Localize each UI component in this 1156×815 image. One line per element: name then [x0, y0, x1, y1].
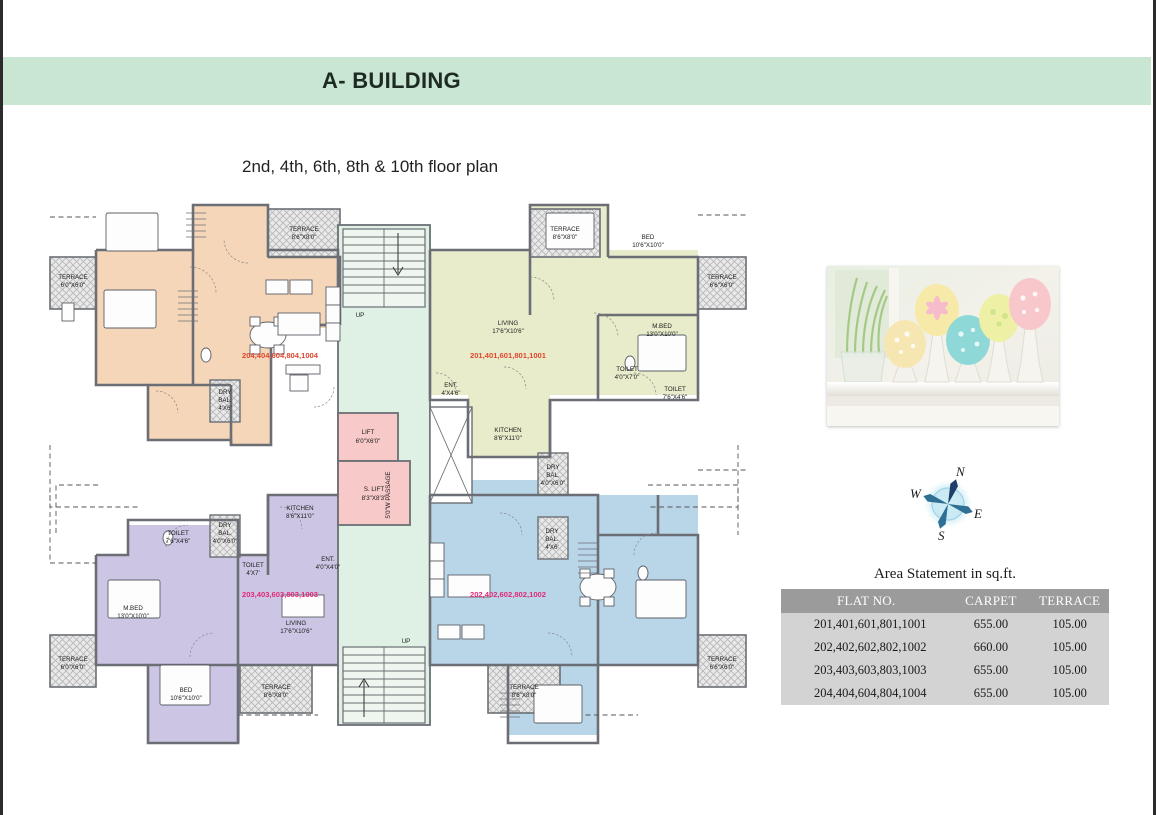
lift-shaft: [338, 413, 398, 461]
label-living-tr-dim: 17'6"X10'6": [492, 328, 524, 335]
label-terrace-tl-a: TERRACE: [58, 274, 88, 281]
label-terrace-tl-b: TERRACE: [289, 226, 319, 233]
label-terrace-tl-a-dim: 6'0"X6'0": [61, 282, 86, 289]
cell-terrace: 105.00: [1030, 636, 1109, 659]
label-ent-tr-dim: 4'X4'6": [441, 390, 460, 397]
area-statement-table: FLAT NO. CARPET TERRACE 201,401,601,801,…: [781, 589, 1109, 705]
cell-carpet: 655.00: [952, 659, 1031, 682]
label-toilet-bl-a: TOILET: [167, 530, 189, 537]
label-living-bl-dim: 17'6"X10'6": [280, 628, 312, 635]
label-ent-bl: ENT.: [321, 556, 335, 563]
header-band: [3, 57, 1151, 105]
cell-flat-no: 202,402,602,802,1002: [781, 636, 952, 659]
label-mbed-tr: M.BED: [652, 323, 672, 330]
label-toilet-bl-a-dim: 7'6"X4'6": [166, 538, 191, 545]
cell-carpet: 660.00: [952, 636, 1031, 659]
floor-plan-subtitle: 2nd, 4th, 6th, 8th & 10th floor plan: [242, 157, 498, 177]
stair-top: UP: [343, 229, 425, 319]
label-toilet-tr-a: TOILET: [616, 366, 638, 373]
label-kitchen-tr: KITCHEN: [494, 427, 521, 434]
label-drybal-tr-dim: 4'0"X6'0": [541, 480, 566, 487]
label-drybal-br-2: BAL.: [545, 536, 559, 543]
label-toilet-tr-b-dim: 7'6"X4'6": [663, 394, 688, 401]
page-root: A- BUILDING 2nd, 4th, 6th, 8th & 10th fl…: [0, 0, 1156, 815]
unit-number-bottom-left: 203,403,603,803,1003: [242, 590, 318, 599]
label-terrace-tr-b-dim: 6'6"X6'0": [710, 282, 735, 289]
label-ent-bl-dim: 4'0"X4'0": [316, 564, 341, 571]
label-mbed-bl-dim: 13'0"X10'0": [117, 613, 149, 620]
label-kitchen-bl-dim: 8'6"X11'0": [286, 513, 314, 520]
label-terrace-bl-b-dim: 8'6"X8'0": [264, 692, 289, 699]
label-terrace-bl-a-dim: 6'0"X6'0": [61, 664, 86, 671]
table-row: 203,403,603,803,1003 655.00 105.00: [781, 659, 1109, 682]
column-header-flat-no: FLAT NO.: [781, 589, 952, 613]
label-drybal-bl-2: BAL.: [218, 530, 232, 537]
stair-bottom: UP: [343, 638, 425, 723]
unit-number-top-left: 204,404,604,804,1004: [242, 351, 319, 360]
label-mbed-tr-dim: 13'0"X10'0": [646, 331, 678, 338]
label-bed-bl-dim: 10'6"X10'0": [170, 695, 202, 702]
label-service-lift-dim: 8'3"X8'3": [362, 495, 387, 502]
label-drybal-tl: DRY: [219, 389, 232, 396]
label-lift-dim: 6'0"X6'0": [356, 438, 381, 445]
cell-carpet: 655.00: [952, 682, 1031, 705]
unit-number-bottom-right: 202,402,602,802,1002: [470, 590, 546, 599]
label-terrace-br-a: TERRACE: [509, 684, 539, 691]
stair-up-label-bottom: UP: [402, 638, 411, 645]
label-mbed-bl: M.BED: [123, 605, 143, 612]
compass-east-label: E: [973, 506, 982, 521]
label-lift: LIFT: [362, 429, 375, 436]
label-terrace-br-b: TERRACE: [707, 656, 737, 663]
label-toilet-tr-a-dim: 4'0"X7'0": [615, 374, 640, 381]
decorative-photo: [827, 266, 1059, 426]
label-terrace-bl-a: TERRACE: [58, 656, 88, 663]
service-lift-shaft: [338, 461, 410, 525]
area-statement-title: Area Statement in sq.ft.: [780, 566, 1110, 583]
label-ent-tr: ENT.: [444, 382, 458, 389]
label-terrace-br-a-dim: 8'6"X8'0": [512, 692, 537, 699]
label-toilet-bl-b: TOILET: [242, 562, 264, 569]
stair-up-label-top: UP: [356, 312, 365, 319]
column-header-carpet: CARPET: [952, 589, 1031, 613]
label-terrace-tr-a-dim: 8'6"X8'0": [553, 234, 578, 241]
table-row: 204,404,604,804,1004 655.00 105.00: [781, 682, 1109, 705]
label-drybal-tl-2: BAL.: [218, 397, 232, 404]
label-terrace-tl-b-dim: 8'6"X8'0": [292, 234, 317, 241]
cell-flat-no: 201,401,601,801,1001: [781, 613, 952, 636]
label-living-bl: LIVING: [286, 620, 306, 627]
label-bed-tr-dim: 10'6"X10'0": [632, 242, 664, 249]
column-header-terrace: TERRACE: [1030, 589, 1109, 613]
cell-flat-no: 204,404,604,804,1004: [781, 682, 952, 705]
label-drybal-br-dim: 4'X6': [545, 544, 558, 551]
label-service-lift: S. LIFT: [364, 486, 385, 493]
compass-south-label: S: [938, 528, 945, 543]
compass-rose: N E S W: [898, 462, 998, 546]
label-bed-tr: BED: [642, 234, 655, 241]
label-drybal-br: DRY: [546, 528, 559, 535]
compass-west-label: W: [910, 486, 922, 501]
label-bed-bl: BED: [180, 687, 193, 694]
page-left-border: [0, 0, 3, 815]
label-drybal-tr-2: BAL.: [546, 472, 560, 479]
label-drybal-tl-dim: 4'X6': [218, 405, 231, 412]
unit-number-top-right: 201,401,601,801,1001: [470, 351, 547, 360]
label-terrace-br-b-dim: 6'6"X6'0": [710, 664, 735, 671]
page-title: A- BUILDING: [322, 68, 461, 94]
label-terrace-tr-a: TERRACE: [550, 226, 580, 233]
label-toilet-bl-b-dim: 4'X7': [246, 570, 259, 577]
cell-terrace: 105.00: [1030, 682, 1109, 705]
floor-plan-drawing: .w{fill:#6b6f75;} .rm{font-family:"Liber…: [38, 195, 758, 755]
label-drybal-bl: DRY: [219, 522, 232, 529]
label-toilet-tr-b: TOILET: [664, 386, 686, 393]
label-drybal-tr: DRY: [547, 464, 560, 471]
label-kitchen-bl: KITCHEN: [286, 505, 313, 512]
label-terrace-bl-b: TERRACE: [261, 684, 291, 691]
label-drybal-bl-dim: 4'0"X6'0": [213, 538, 238, 545]
table-row: 202,402,602,802,1002 660.00 105.00: [781, 636, 1109, 659]
compass-north-label: N: [955, 464, 966, 479]
cell-flat-no: 203,403,603,803,1003: [781, 659, 952, 682]
label-terrace-tr-b: TERRACE: [707, 274, 737, 281]
table-header-row: FLAT NO. CARPET TERRACE: [781, 589, 1109, 613]
cell-terrace: 105.00: [1030, 659, 1109, 682]
cell-terrace: 105.00: [1030, 613, 1109, 636]
label-kitchen-tr-dim: 8'6"X11'0": [494, 435, 522, 442]
cell-carpet: 655.00: [952, 613, 1031, 636]
table-row: 201,401,601,801,1001 655.00 105.00: [781, 613, 1109, 636]
label-living-tr: LIVING: [498, 320, 518, 327]
